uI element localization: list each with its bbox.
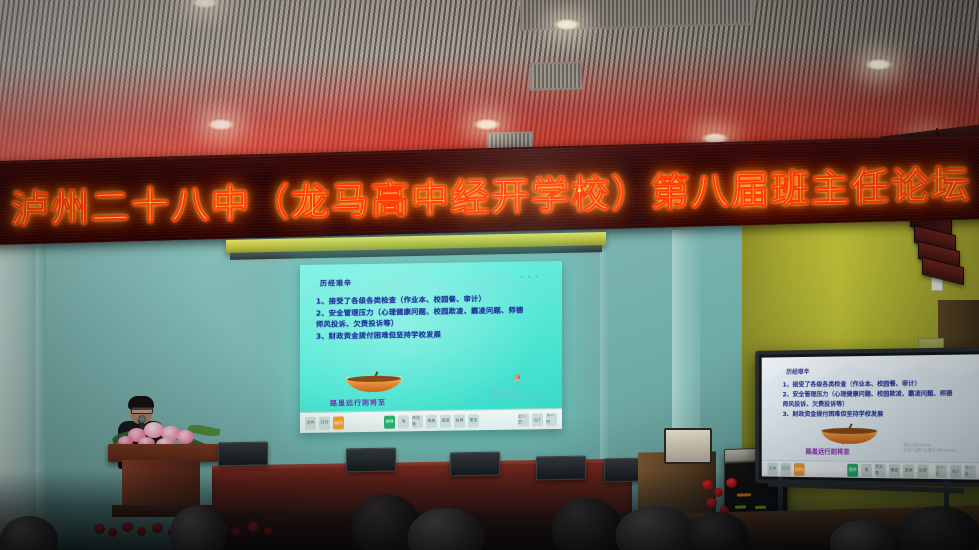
tv-stand-crossbar [768,482,964,494]
red-flower [232,528,241,537]
ceiling-spotlight [206,118,236,131]
flower-petal [177,430,194,444]
slide-boat-caption: 路虽远行则将至 [330,398,386,409]
tv-boat-graphic [821,426,878,444]
led-banner-glare [390,145,673,234]
wall-pilaster [36,228,46,550]
red-flower [122,522,133,532]
tv-share-icon[interactable]: 投屏 [917,464,928,477]
red-flower [714,488,723,497]
prev-slide-icon[interactable]: 上一页 [518,413,529,426]
tv-eraser-icon[interactable]: 橡皮 [889,464,900,477]
tv-slide-line: 2、安全管理压力（心理健康问题、校园欺凌、霸凌问题、师德 [783,389,970,400]
windows-activation-watermark: 激活 Windows 转到"设置"以激活 Windows。 [491,387,546,398]
tv-blank-icon[interactable]: 黑屏 [903,464,914,477]
cabinet-monitor [664,428,712,464]
tv-play-icon[interactable]: 放映 [847,463,858,476]
tv-wps-icon[interactable]: WPS [794,463,805,476]
tv-watermark-line: 激活 Windows 转到"设置"以激活 Windows。 [903,442,959,453]
file-icon[interactable]: 文件 [305,416,316,429]
share-icon[interactable]: 投屏 [454,414,465,427]
marker-icon[interactable]: 荧光笔 [412,415,423,428]
red-flower [726,478,737,488]
eraser-icon[interactable]: 橡皮 [426,414,437,427]
tv-slide-title: 历经艰辛 [786,367,809,376]
tv-page-indicator: 6/7 [950,464,961,477]
more-icon[interactable]: 更多 [468,414,479,427]
red-flower [137,527,146,536]
desk-monitor [536,456,586,481]
watermark-line: 激活 Windows 转到"设置"以激活 Windows。 [491,387,546,398]
red-flower [108,528,117,537]
slide-small-boat-icon: ⛵ [513,374,522,382]
tv-next-slide-icon[interactable]: 下一页 [964,465,975,478]
tv-pen-icon[interactable]: 笔 [861,463,872,476]
desk-monitor [218,442,268,467]
ceiling-spotlight [552,18,582,31]
audience-head [898,506,979,550]
audience-head [552,498,622,550]
slide-title: 历经艰辛 [320,278,352,289]
wall-display-tv: 历经艰辛 1、接受了各级各类检查（作业本、校园餐、审计） 2、安全管理压力（心理… [755,347,979,487]
glasses-icon [131,407,153,414]
red-flower [264,527,273,536]
tv-slide-line: 师风投诉、欠费投诉等） [783,400,970,411]
podium-body [122,460,200,510]
tv-slide-body: 1、接受了各级各类检查（作业本、校园餐、审计） 2、安全管理压力（心理健康问题、… [783,379,970,420]
wall-left-panel [0,225,36,550]
tv-marker-icon[interactable]: 荧光笔 [875,464,886,477]
play-icon[interactable]: 放映 [384,415,395,428]
slide-birds-icon: ᵥ ᵥ ᵥ [521,273,540,279]
slide-body: 1、接受了各级各类检查（作业本、校园餐、审计） 2、安全管理压力（心理健康问题、… [316,292,552,342]
tv-prev-slide-icon[interactable]: 上一页 [936,464,947,477]
open-icon[interactable]: 打开 [319,416,330,429]
auditorium-screenshot: 泸州二十八中（龙马高中经开学校）第八届班主任论坛 ᵥ ᵥ ᵥ 历经艰辛 1、接受… [0,0,979,550]
wps-icon[interactable]: WPS [333,416,344,429]
tv-windows-watermark: 激活 Windows 转到"设置"以激活 Windows。 [903,442,959,453]
tv-open-icon[interactable]: 打开 [781,462,791,475]
blank-icon[interactable]: 黑屏 [440,414,451,427]
red-flower [248,522,259,532]
mixer-led [735,505,746,508]
mixer-led [755,506,766,509]
tv-boat-caption: 路虽远行则将至 [805,446,849,456]
desk-monitor [346,448,396,473]
tv-file-icon[interactable]: 文件 [767,462,777,475]
red-flower [152,523,163,533]
stage-flower-row [700,476,780,502]
projection-screen: ᵥ ᵥ ᵥ 历经艰辛 1、接受了各级各类检查（作业本、校园餐、审计） 2、安全管… [300,261,562,433]
slide-boat-graphic [346,373,402,392]
tv-boat-rim [822,428,877,434]
presentation-toolbar[interactable]: 文件 打开 WPS 放映 笔 荧光笔 橡皮 黑屏 投屏 更多 上一页 6/7 下… [300,408,562,433]
red-flower [702,480,713,490]
ceiling-spotlight [472,118,502,131]
desk-monitor [450,452,500,477]
ceiling-spotlight [864,58,894,71]
red-flower [706,498,717,508]
pen-icon[interactable]: 笔 [398,415,409,428]
next-slide-icon[interactable]: 下一页 [546,413,557,426]
ceiling-air-vent [530,61,582,90]
tv-screen: 历经艰辛 1、接受了各级各类检查（作业本、校园餐、审计） 2、安全管理压力（心理… [762,354,979,479]
tv-slide-line: 3、财政资金拨付困难但坚持学校发展 [783,410,970,420]
red-flower [94,524,105,534]
page-indicator: 6/7 [532,413,543,426]
